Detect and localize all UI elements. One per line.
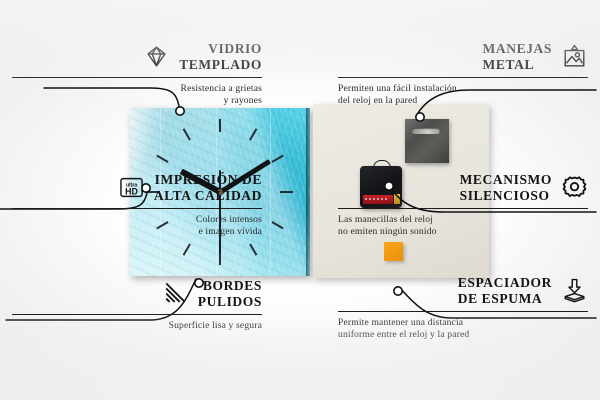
feature-subtitle: Colores intensos e imagen vívida [12,214,262,237]
feature-title: VIDRIO TEMPLADO [179,41,262,72]
feature-title: BORDES PULIDOS [198,278,262,309]
feature-subtitle: Resistencia a grietas y rayones [12,83,262,106]
infographic-canvas: VIDRIO TEMPLADO Resistencia a grietas y … [0,0,600,400]
feature-vidrio-templado: VIDRIO TEMPLADO Resistencia a grietas y … [12,41,262,107]
feature-title: IMPRESIÓN DE ALTA CALIDAD [154,172,262,203]
feature-title: MECANISMO SILENCIOSO [460,172,552,203]
ultra-hd-large-text: HD [125,186,138,196]
feature-impresion-alta-calidad: ultra HD IMPRESIÓN DE ALTA CALIDAD Color… [12,172,262,238]
feature-mecanismo-silencioso: MECANISMO SILENCIOSO Las manecillas del … [338,172,588,238]
feature-espaciador-espuma: ESPACIADOR DE ESPUMA Permite mantener un… [338,275,588,341]
divider [338,208,588,209]
diamond-icon [143,43,170,70]
mechanism-hook [373,160,391,170]
picture-hanger-icon [561,43,588,70]
divider [338,77,588,78]
glass-edge [306,108,310,276]
feature-bordes-pulidos: BORDES PULIDOS Superficie lisa y segura [12,278,262,332]
foam-spacer-pad [384,242,403,261]
foam-spacer-icon [561,277,588,304]
feature-subtitle: Superficie lisa y segura [12,320,262,332]
divider [12,77,262,78]
feature-subtitle: Permiten una fácil instalación del reloj… [338,83,588,106]
feature-title: MANEJAS METAL [483,41,552,72]
feature-manejas-metal: MANEJAS METAL Permiten una fácil instala… [338,41,588,107]
feature-subtitle: Las manecillas del reloj no emiten ningú… [338,214,588,237]
ultra-hd-icon: ultra HD [118,174,145,201]
metal-hanger-plate [405,119,449,163]
divider [12,208,262,209]
divider [12,314,262,315]
feature-subtitle: Permite mantener una distancia uniforme … [338,317,588,340]
feature-title: ESPACIADOR DE ESPUMA [458,275,552,306]
divider [338,311,588,312]
gear-icon [561,174,588,201]
hanger-slot [412,128,440,134]
polished-edges-icon [162,280,189,307]
